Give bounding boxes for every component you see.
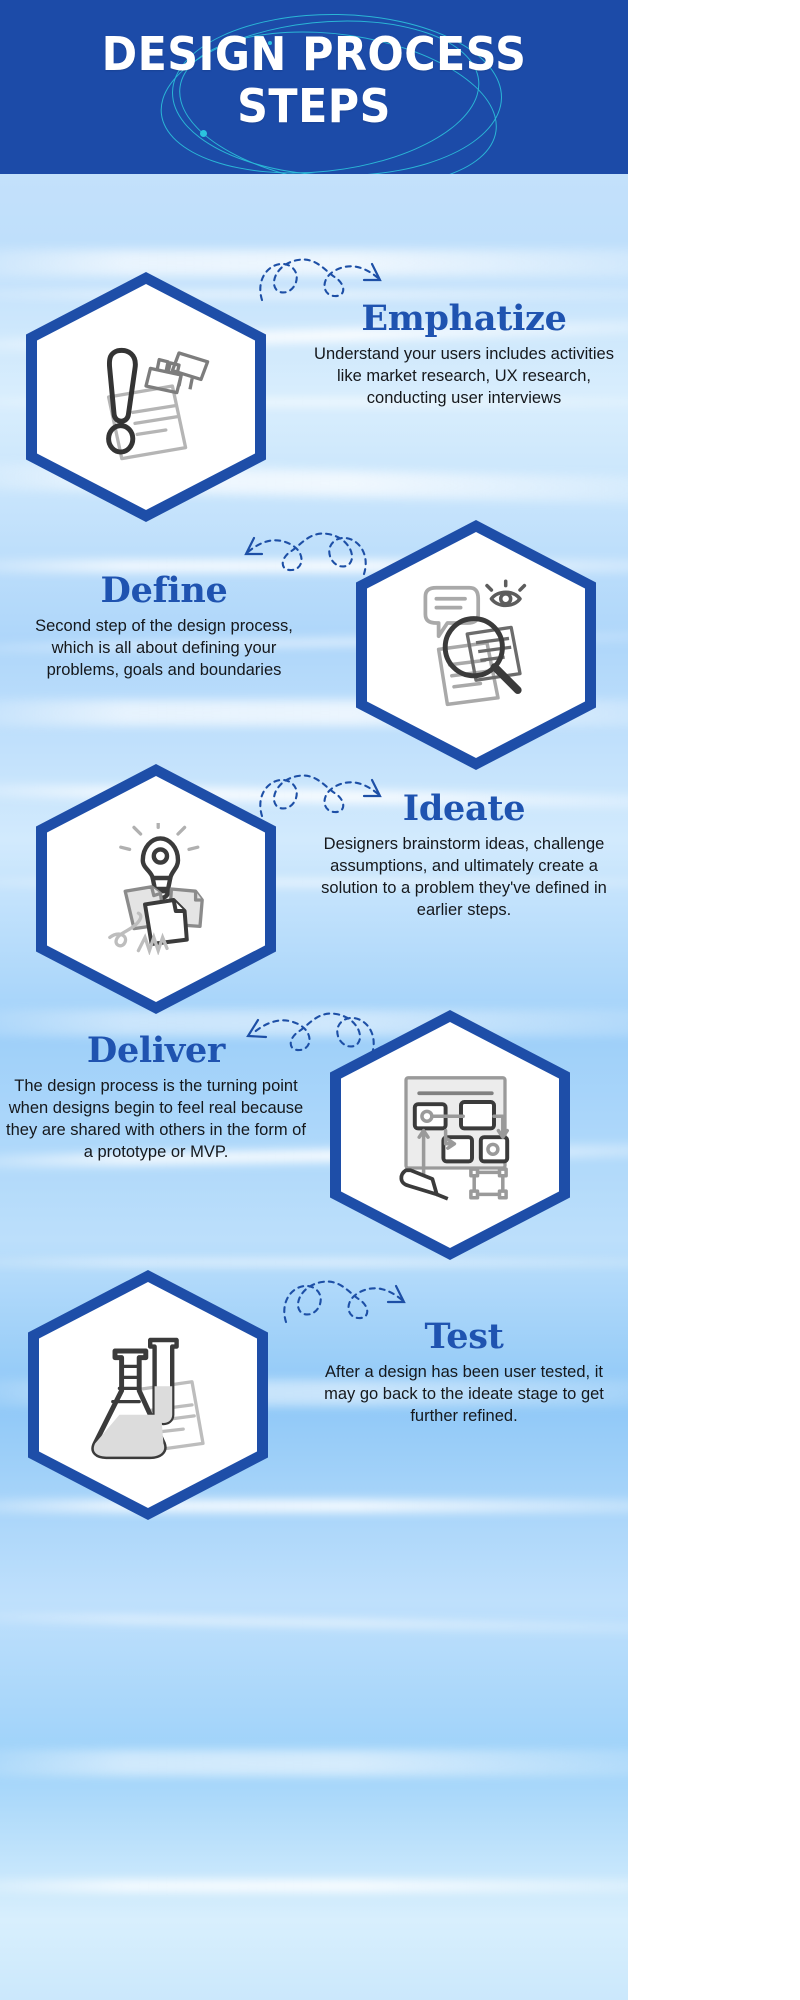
step-text-deliver: Deliver The design process is the turnin… <box>6 1032 306 1163</box>
step-emphatize: Emphatize Understand your users includes… <box>0 272 628 522</box>
step-text-emphatize: Emphatize Understand your users includes… <box>314 300 614 409</box>
step-body: The design process is the turning point … <box>6 1075 306 1163</box>
step-body: After a design has been user tested, it … <box>314 1361 614 1427</box>
header-banner: DESIGN PROCESS STEPS <box>0 0 628 174</box>
hexagon-ideate <box>36 764 276 1014</box>
step-body: Understand your users includes activitie… <box>314 343 614 409</box>
cloud-streak <box>0 1613 628 1631</box>
step-title: Test <box>314 1318 614 1356</box>
hexagon-test <box>28 1270 268 1520</box>
step-ideate: Ideate Designers brainstorm ideas, chall… <box>0 764 628 1014</box>
infographic-canvas: DESIGN PROCESS STEPS <box>0 0 628 2000</box>
step-body: Second step of the design process, which… <box>14 615 314 681</box>
cloud-streak <box>0 1880 628 1892</box>
step-text-define: Define Second step of the design process… <box>14 572 314 681</box>
step-title: Ideate <box>314 790 614 828</box>
step-deliver: Deliver The design process is the turnin… <box>0 1010 628 1260</box>
step-test: Test After a design has been user tested… <box>0 1270 628 1520</box>
cloud-streak <box>0 1750 628 1776</box>
page-title: DESIGN PROCESS STEPS <box>22 0 606 132</box>
step-title: Deliver <box>6 1032 306 1070</box>
step-title: Define <box>14 572 314 610</box>
page-title-line2: STEPS <box>22 80 606 132</box>
step-text-ideate: Ideate Designers brainstorm ideas, chall… <box>314 790 614 921</box>
step-title: Emphatize <box>314 300 614 338</box>
step-define: Define Second step of the design process… <box>0 520 628 770</box>
step-text-test: Test After a design has been user tested… <box>314 1318 614 1427</box>
hexagon-emphatize <box>26 272 266 522</box>
hexagon-deliver <box>330 1010 570 1260</box>
hexagon-define <box>356 520 596 770</box>
page-title-line1: DESIGN PROCESS <box>102 27 527 81</box>
step-body: Designers brainstorm ideas, challenge as… <box>314 833 614 921</box>
cloud-streak <box>0 1260 628 1265</box>
infographic-page: DESIGN PROCESS STEPS <box>0 0 800 2000</box>
